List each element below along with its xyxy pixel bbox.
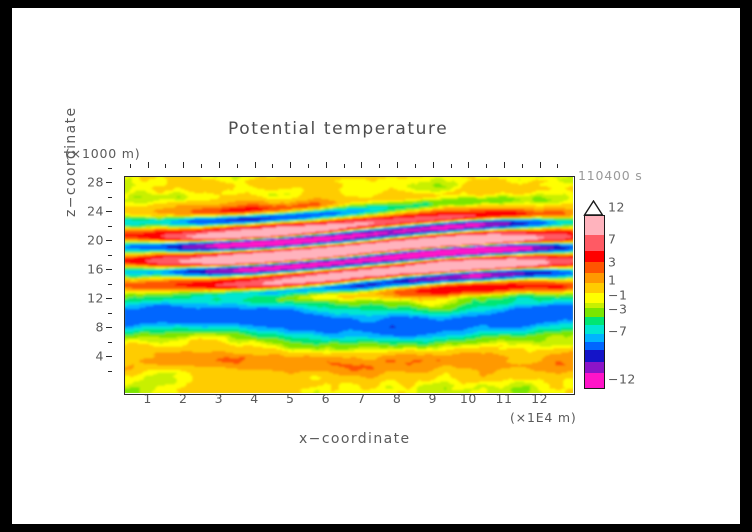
- y-tick-label: 16: [74, 262, 104, 277]
- x-tick-label: 12: [531, 391, 548, 406]
- colorbar-band: [585, 283, 604, 292]
- colorbar-band: [585, 325, 604, 333]
- y-tick-mark: [106, 356, 112, 357]
- colorbar-tick-label: −12: [608, 372, 636, 387]
- colorbar-band: [585, 251, 604, 262]
- colorbar-top-arrow: [583, 200, 604, 216]
- x-tick-label: 11: [496, 391, 513, 406]
- x-top-minor-tick-mark: [237, 164, 238, 168]
- colorbar-band: [585, 334, 604, 342]
- colorbar-tick-label: 7: [608, 232, 616, 247]
- x-top-minor-tick-mark: [344, 164, 345, 168]
- y-tick-mark: [106, 211, 112, 212]
- x-top-minor-tick-mark: [201, 164, 202, 168]
- page-title: Potential temperature: [228, 119, 448, 139]
- x-tick-label: 8: [393, 391, 401, 406]
- colorbar-band: [585, 350, 604, 362]
- y-tick-label: 24: [74, 204, 104, 219]
- figure-canvas: Potential temperature (×1000 m) 110400 s…: [12, 8, 740, 524]
- y-tick-mark: [106, 269, 112, 270]
- x-axis-unit-label: (×1E4 m): [510, 410, 577, 425]
- colorbar-band: [585, 362, 604, 373]
- x-top-tick-mark: [326, 162, 327, 168]
- y-tick-mark: [106, 240, 112, 241]
- y-tick-label: 8: [74, 320, 104, 335]
- colorbar-band: [585, 216, 604, 235]
- colorbar-tick-label: −3: [608, 302, 627, 317]
- x-top-tick-mark: [504, 162, 505, 168]
- x-top-minor-tick-mark: [522, 164, 523, 168]
- colorbar-tick-label: 3: [608, 255, 616, 270]
- time-annotation: 110400 s: [578, 168, 643, 183]
- y-minor-tick-mark: [108, 168, 112, 169]
- x-top-tick-mark: [397, 162, 398, 168]
- y-minor-tick-mark: [108, 313, 112, 314]
- x-axis-title: x−coordinate: [299, 431, 411, 447]
- colorbar-band: [585, 273, 604, 283]
- y-tick-label: 4: [74, 349, 104, 364]
- y-minor-tick-mark: [108, 226, 112, 227]
- x-top-minor-tick-mark: [308, 164, 309, 168]
- x-tick-label: 1: [143, 391, 151, 406]
- x-top-tick-mark: [361, 162, 362, 168]
- x-top-minor-tick-mark: [451, 164, 452, 168]
- y-tick-label: 20: [74, 233, 104, 248]
- colorbar-band: [585, 317, 604, 325]
- colorbar-band: [585, 262, 604, 273]
- x-top-minor-tick-mark: [379, 164, 380, 168]
- x-top-minor-tick-mark: [130, 164, 131, 168]
- colorbar-band: [585, 308, 604, 316]
- colorbar-tick-label: 1: [608, 273, 616, 288]
- x-top-tick-mark: [255, 162, 256, 168]
- x-tick-label: 10: [460, 391, 477, 406]
- y-minor-tick-mark: [108, 284, 112, 285]
- x-top-tick-mark: [148, 162, 149, 168]
- x-tick-label: 7: [357, 391, 365, 406]
- x-tick-label: 5: [286, 391, 294, 406]
- x-top-tick-mark: [183, 162, 184, 168]
- colorbar-tick-label: −7: [608, 324, 627, 339]
- x-tick-label: 9: [428, 391, 436, 406]
- y-tick-label: 12: [74, 291, 104, 306]
- y-tick-mark: [106, 298, 112, 299]
- x-top-minor-tick-mark: [165, 164, 166, 168]
- y-tick-mark: [106, 182, 112, 183]
- colorbar-band: [585, 342, 604, 349]
- colorbar-tick-label: 12: [608, 200, 625, 215]
- x-top-minor-tick-mark: [557, 164, 558, 168]
- colorbar-tick-label: −1: [608, 288, 627, 303]
- colorbar-band: [585, 373, 604, 388]
- colorbar: [584, 215, 605, 389]
- colorbar-band: [585, 235, 604, 251]
- image-border: Potential temperature (×1000 m) 110400 s…: [0, 0, 752, 532]
- x-top-tick-mark: [540, 162, 541, 168]
- y-minor-tick-mark: [108, 342, 112, 343]
- colorbar-band: [585, 293, 604, 303]
- x-top-tick-mark: [290, 162, 291, 168]
- x-top-minor-tick-mark: [486, 164, 487, 168]
- x-top-tick-mark: [468, 162, 469, 168]
- y-minor-tick-mark: [108, 255, 112, 256]
- x-tick-label: 2: [179, 391, 187, 406]
- contour-plot-area: [124, 176, 573, 393]
- y-minor-tick-mark: [108, 371, 112, 372]
- y-axis-title: z−coordinate: [63, 57, 79, 217]
- x-top-tick-mark: [219, 162, 220, 168]
- x-top-tick-mark: [433, 162, 434, 168]
- x-tick-label: 4: [250, 391, 258, 406]
- potential-temperature-field: [124, 176, 573, 393]
- y-minor-tick-mark: [108, 197, 112, 198]
- x-tick-label: 6: [322, 391, 330, 406]
- x-top-minor-tick-mark: [272, 164, 273, 168]
- x-top-minor-tick-mark: [415, 164, 416, 168]
- y-tick-mark: [106, 327, 112, 328]
- x-tick-label: 3: [215, 391, 223, 406]
- y-tick-label: 28: [74, 175, 104, 190]
